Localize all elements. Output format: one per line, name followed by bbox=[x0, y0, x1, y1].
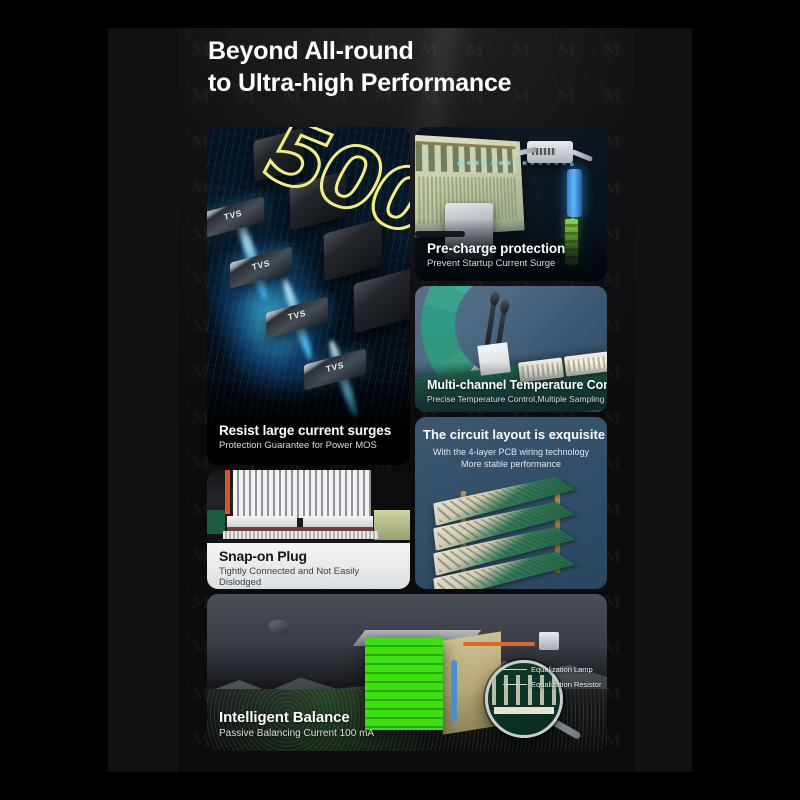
caption-scrim bbox=[207, 379, 410, 465]
card-intelligent-balance[interactable]: Equalization Lamp Equalization Resistor … bbox=[207, 594, 607, 751]
orange-busbar bbox=[463, 642, 535, 646]
surge-subtitle: Protection Guarantee for Power MOS bbox=[219, 440, 398, 451]
temperature-subtitle: Precise Temperature Control,Multiple Sam… bbox=[427, 394, 595, 404]
watermark-glyph: M bbox=[498, 764, 544, 772]
callout-equalization-lamp: Equalization Lamp bbox=[503, 662, 607, 677]
precharge-title: Pre-charge protection bbox=[427, 241, 595, 256]
plug-caption: Snap-on Plug Tightly Connected and Not E… bbox=[207, 543, 410, 589]
circuit-subtitle-line2: More stable performance bbox=[423, 458, 599, 470]
plug-title: Snap-on Plug bbox=[219, 548, 398, 564]
pcb-layer-stack bbox=[439, 479, 585, 579]
watermark-glyph: M bbox=[361, 764, 407, 772]
watermark-glyph: M bbox=[452, 764, 498, 772]
circuit-title: The circuit layout is exquisite bbox=[423, 427, 599, 442]
card-snap-on-plug[interactable]: Snap-on Plug Tightly Connected and Not E… bbox=[207, 470, 410, 589]
circuit-caption: The circuit layout is exquisite With the… bbox=[415, 427, 607, 470]
watermark-glyph: M bbox=[315, 764, 361, 772]
page-title-line2: to Ultra-high Performance bbox=[208, 67, 618, 99]
precharge-caption: Pre-charge protection Prevent Startup Cu… bbox=[415, 241, 607, 269]
surge-caption: Resist large current surges Protection G… bbox=[207, 423, 410, 451]
ribbon-cable bbox=[233, 470, 371, 518]
blue-capacitor bbox=[567, 169, 582, 217]
page-title-line1: Beyond All-round bbox=[208, 37, 414, 65]
feature-card-grid: TVS TVS TVS TVS 5000W Resist large curre… bbox=[207, 127, 607, 761]
header-pins bbox=[223, 531, 379, 539]
precharge-subtitle: Prevent Startup Current Surge bbox=[427, 258, 595, 269]
floating-rock bbox=[269, 620, 289, 634]
callout-resistor-label: Equalization Resistor bbox=[531, 680, 601, 689]
plug-photo bbox=[207, 470, 410, 543]
temperature-caption: Multi-channel Temperature Contro Precise… bbox=[415, 378, 607, 404]
content-area: MMMMMMMMMMMMMMMMMMMMMMMMMMMMMMMMMMMMMMMM… bbox=[178, 28, 635, 772]
callout-leader-line bbox=[503, 684, 527, 685]
card-resist-surges[interactable]: TVS TVS TVS TVS 5000W Resist large curre… bbox=[207, 127, 410, 465]
watermark-glyph: M bbox=[544, 764, 590, 772]
watermark-glyph: M bbox=[224, 764, 270, 772]
balance-callouts: Equalization Lamp Equalization Resistor bbox=[503, 662, 607, 692]
page-title: Beyond All-round to Ultra-high Performan… bbox=[208, 35, 618, 99]
callout-equalization-resistor: Equalization Resistor bbox=[503, 677, 607, 692]
circuit-subtitle-line1: With the 4-layer PCB wiring technology bbox=[423, 446, 599, 458]
balance-title: Intelligent Balance bbox=[219, 709, 595, 726]
balance-subtitle: Passive Balancing Current 100 mA bbox=[219, 728, 595, 739]
watermark-glyph: M bbox=[269, 764, 315, 772]
surge-title: Resist large current surges bbox=[219, 423, 398, 438]
photo-shadow bbox=[368, 470, 410, 510]
balance-caption: Intelligent Balance Passive Balancing Cu… bbox=[207, 709, 607, 739]
watermark-glyph: M bbox=[407, 764, 453, 772]
pcb-edge-right bbox=[374, 510, 410, 540]
callout-lamp-label: Equalization Lamp bbox=[531, 665, 593, 674]
temperature-title: Multi-channel Temperature Contro bbox=[427, 378, 595, 392]
card-circuit-layout[interactable]: The circuit layout is exquisite With the… bbox=[415, 417, 607, 589]
card-precharge-protection[interactable]: Pre-charge protection Prevent Startup Cu… bbox=[415, 127, 607, 281]
bms-module bbox=[539, 632, 559, 650]
plug-subtitle: Tightly Connected and Not Easily Dislodg… bbox=[219, 566, 398, 588]
watermark-glyph: M bbox=[589, 764, 635, 772]
screenshot-root: MMMMMMMMMMMMMMMMMMMMMMMMMMMMMMMMMMMMMMMM… bbox=[0, 0, 800, 800]
card-temperature-control[interactable]: Multi-channel Temperature Contro Precise… bbox=[415, 286, 607, 412]
orange-wire bbox=[225, 470, 230, 514]
watermark-glyph: M bbox=[178, 764, 224, 772]
callout-leader-line bbox=[503, 669, 527, 670]
